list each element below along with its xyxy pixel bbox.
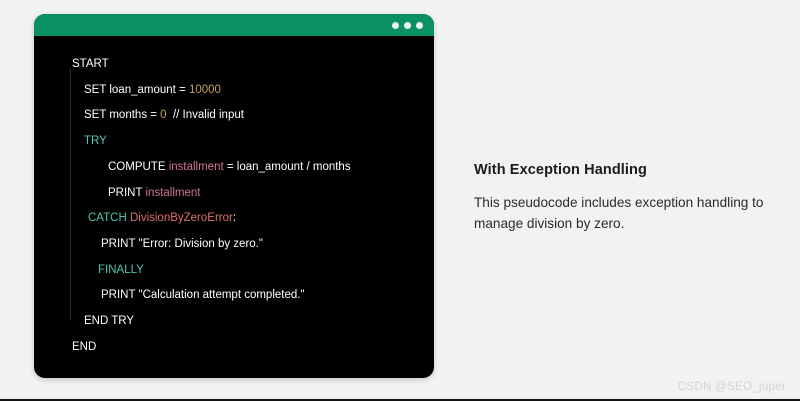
code-token-plain: PRINT "Error: Division by zero." — [101, 238, 263, 250]
code-token-number: 10000 — [189, 84, 221, 96]
code-token-plain: END — [72, 341, 96, 353]
code-line: END — [34, 335, 434, 361]
code-token-plain: SET loan_amount = — [84, 84, 189, 96]
code-line: END TRY — [34, 309, 434, 335]
code-line: PRINT installment — [34, 181, 434, 207]
code-token-keyword: TRY — [84, 135, 107, 147]
code-token-var: installment — [146, 187, 201, 199]
code-lines: STARTSET loan_amount = 10000SET months =… — [34, 52, 434, 360]
code-token-error: DivisionByZeroError — [130, 212, 233, 224]
code-token-plain: SET months = — [84, 109, 160, 121]
window-titlebar — [34, 14, 434, 36]
code-token-keyword: CATCH — [88, 212, 130, 224]
code-token-plain: PRINT — [108, 187, 146, 199]
code-token-var: installment — [169, 161, 224, 173]
code-token-plain: COMPUTE — [108, 161, 169, 173]
watermark: CSDN @SEO_juper — [678, 381, 786, 393]
explanation-panel: With Exception Handling This pseudocode … — [474, 162, 774, 234]
code-token-plain: = loan_amount / months — [224, 161, 351, 173]
code-line: SET loan_amount = 10000 — [34, 78, 434, 104]
code-line: COMPUTE installment = loan_amount / mont… — [34, 155, 434, 181]
window-dot-2-icon[interactable] — [404, 22, 411, 29]
code-token-plain: PRINT "Calculation attempt completed." — [101, 289, 305, 301]
code-token-keyword: FINALLY — [98, 264, 144, 276]
code-token-plain: // Invalid input — [167, 109, 244, 121]
code-token-plain: END TRY — [84, 315, 134, 327]
code-line: START — [34, 52, 434, 78]
code-line: FINALLY — [34, 258, 434, 284]
explanation-title: With Exception Handling — [474, 162, 774, 178]
explanation-body: This pseudocode includes exception handl… — [474, 192, 764, 234]
window-dot-1-icon[interactable] — [392, 22, 399, 29]
code-line: TRY — [34, 129, 434, 155]
code-token-plain: : — [233, 212, 236, 224]
code-window: STARTSET loan_amount = 10000SET months =… — [34, 14, 434, 378]
code-line: CATCH DivisionByZeroError: — [34, 206, 434, 232]
window-dot-3-icon[interactable] — [416, 22, 423, 29]
code-token-plain: START — [72, 58, 109, 70]
code-line: PRINT "Error: Division by zero." — [34, 232, 434, 258]
code-line: PRINT "Calculation attempt completed." — [34, 283, 434, 309]
code-block: STARTSET loan_amount = 10000SET months =… — [34, 36, 434, 378]
code-line: SET months = 0 // Invalid input — [34, 103, 434, 129]
